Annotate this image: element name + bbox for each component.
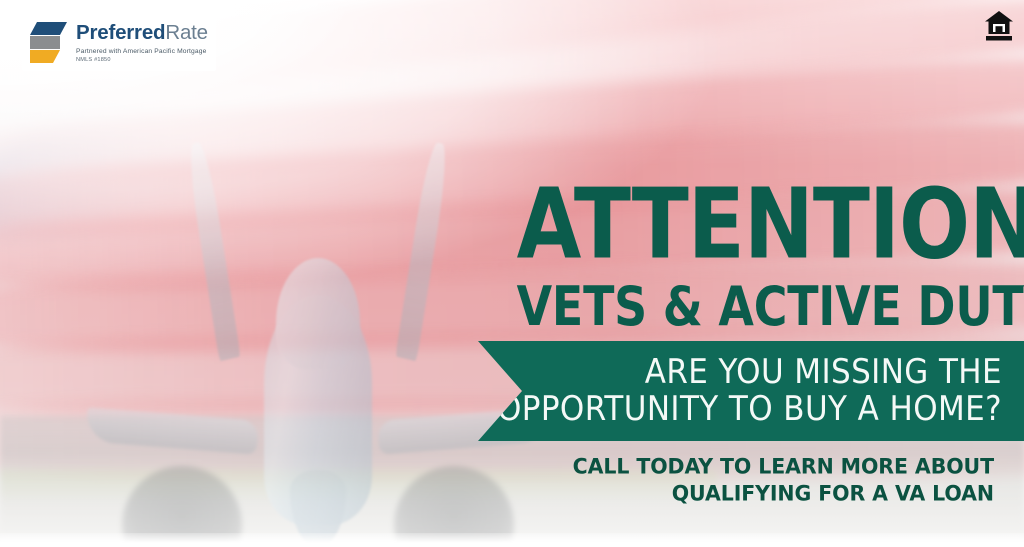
logo-text-block: PreferredRate Partnered with American Pa… xyxy=(76,18,208,63)
cta-line-1: CALL TODAY TO LEARN MORE ABOUT xyxy=(573,452,994,481)
headline-primary: ATTENTION xyxy=(517,186,996,267)
logo-tagline: Partnered with American Pacific Mortgage xyxy=(76,48,208,55)
call-to-action: CALL TODAY TO LEARN MORE ABOUT QUALIFYIN… xyxy=(573,453,994,507)
equal-housing-opportunity-icon xyxy=(984,8,1014,42)
headline-secondary: VETS & ACTIVE DUTY xyxy=(517,283,996,332)
ribbon-line-2: OPPORTUNITY TO BUY A HOME? xyxy=(497,389,1002,429)
cta-line-2: QUALIFYING FOR A VA LOAN xyxy=(573,479,994,508)
va-loan-banner-ad: PreferredRate Partnered with American Pa… xyxy=(0,0,1024,547)
logo-wordmark: PreferredRate xyxy=(76,23,208,44)
logo-brand-bold: Preferred xyxy=(76,21,165,44)
logo-brand-light: Rate xyxy=(165,21,208,44)
bottom-white-wash xyxy=(0,533,1024,547)
ribbon-line-1: ARE YOU MISSING THE xyxy=(645,353,1002,393)
preferred-rate-logo-mark xyxy=(27,18,69,66)
headline-group: ATTENTION VETS & ACTIVE DUTY xyxy=(526,198,996,331)
logo-nmls-number: NMLS #1850 xyxy=(76,57,208,63)
ribbon-banner: ARE YOU MISSING THE OPPORTUNITY TO BUY A… xyxy=(478,341,1024,441)
brand-logo[interactable]: PreferredRate Partnered with American Pa… xyxy=(22,14,216,71)
